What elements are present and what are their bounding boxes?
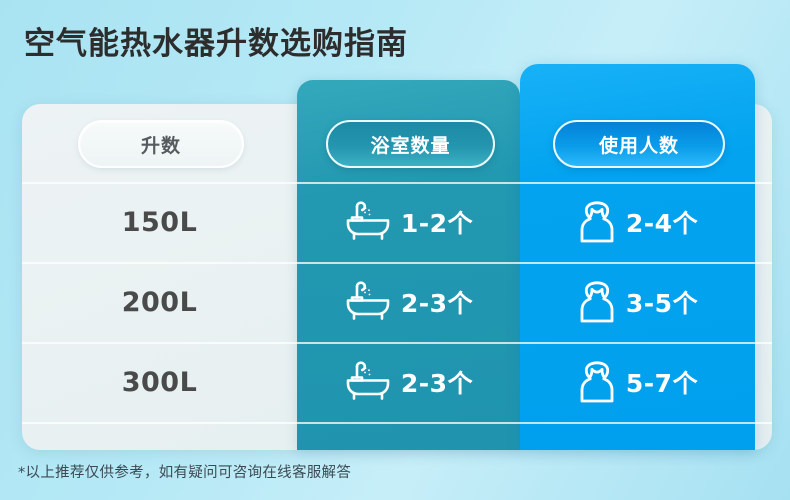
- table-row: 200L 2-3个: [22, 262, 772, 342]
- cell-bathrooms: 2-3个: [297, 262, 520, 342]
- infographic-root: 空气能热水器升数选购指南 升数 浴室数量 使用人数 150L: [0, 0, 790, 500]
- table-row-bottom: [22, 422, 772, 450]
- table-row: 150L 1-2个: [22, 182, 772, 262]
- cell-liters: 300L: [22, 342, 297, 422]
- cell-bathrooms: 2-3个: [297, 342, 520, 422]
- bathtub-shower-icon: [344, 361, 392, 403]
- header-pill-bathrooms: 浴室数量: [326, 120, 495, 168]
- cell-people: 3-5个: [520, 262, 755, 342]
- cell-liters: 200L: [22, 262, 297, 342]
- person-icon: [577, 281, 617, 323]
- people-count: 5-7个: [626, 364, 698, 400]
- cell-people: 2-4个: [520, 182, 755, 262]
- bathroom-count: 1-2个: [401, 204, 473, 240]
- bathtub-shower-icon: [344, 281, 392, 323]
- footnote-text: *以上推荐仅供参考，如有疑问可咨询在线客服解答: [18, 461, 351, 482]
- header-pill-people: 使用人数: [553, 120, 725, 168]
- row-divider: [22, 422, 772, 424]
- bathroom-count: 2-3个: [401, 364, 473, 400]
- people-count: 2-4个: [626, 204, 698, 240]
- bathroom-count: 2-3个: [401, 284, 473, 320]
- person-icon: [577, 361, 617, 403]
- page-title: 空气能热水器升数选购指南: [24, 18, 408, 63]
- header-pill-liters: 升数: [78, 120, 244, 168]
- cell-liters: 150L: [22, 182, 297, 262]
- table-row: 300L 2-3个: [22, 342, 772, 422]
- cell-people: 5-7个: [520, 342, 755, 422]
- bathtub-shower-icon: [344, 201, 392, 243]
- person-icon: [577, 201, 617, 243]
- people-count: 3-5个: [626, 284, 698, 320]
- cell-bathrooms: 1-2个: [297, 182, 520, 262]
